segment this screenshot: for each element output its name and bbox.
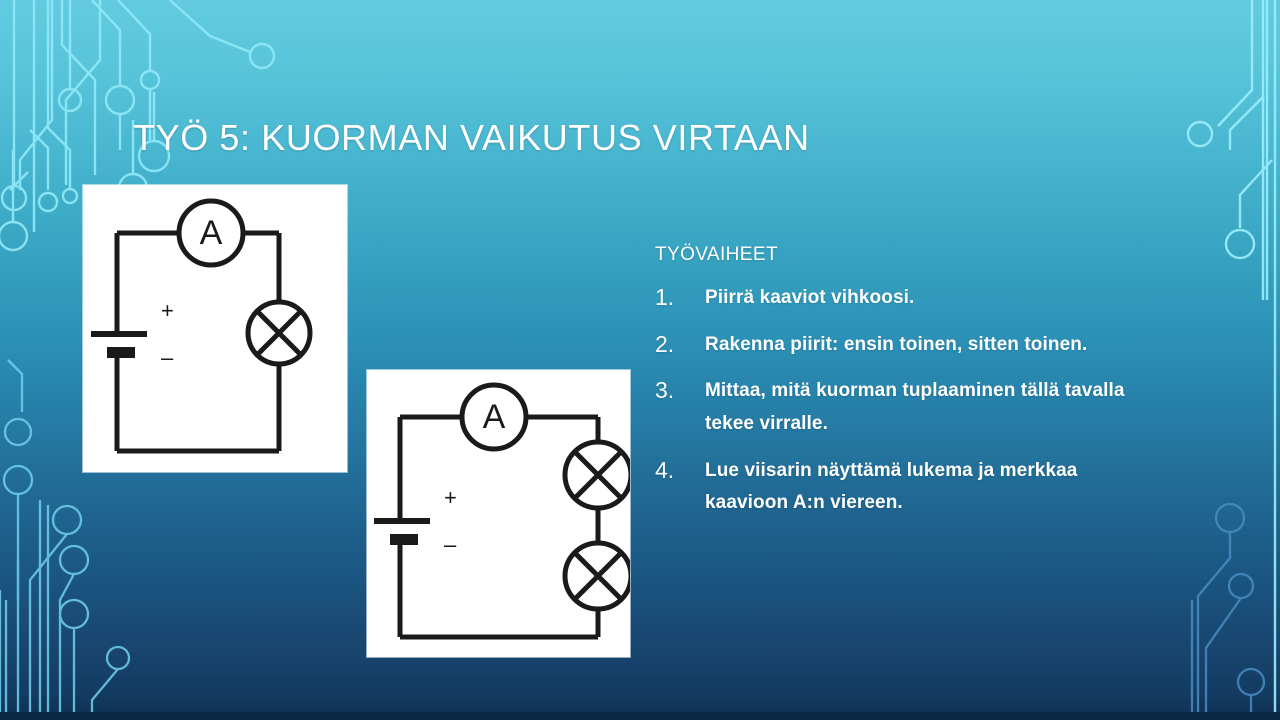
list-item: 1. Piirrä kaaviot vihkoosi. <box>655 282 1125 315</box>
battery-plus-label: + <box>161 298 174 323</box>
ammeter-symbol: A <box>179 201 243 265</box>
list-item-number: 2. <box>655 329 705 359</box>
slide-canvas: TYÖ 5: KUORMAN VAIKUTUS VIRTAAN <box>0 0 1280 720</box>
list-item-text: Rakenna piirit: ensin toinen, sitten toi… <box>705 329 1125 362</box>
lamp-symbol <box>248 302 310 364</box>
steps-block: TYÖVAIHEET 1. Piirrä kaaviot vihkoosi. 2… <box>655 244 1125 534</box>
circuit-svg-one-lamp: A + – <box>83 185 347 472</box>
list-item: 3. Mittaa, mitä kuorman tuplaaminen täll… <box>655 375 1125 440</box>
list-item-number: 1. <box>655 282 705 312</box>
bottom-accent-strip <box>0 712 1280 720</box>
circuit-diagram-two-lamps: A + – <box>367 370 630 657</box>
ammeter-label: A <box>200 214 223 252</box>
list-item-text: Piirrä kaaviot vihkoosi. <box>705 282 1125 315</box>
battery-symbol: + – <box>374 485 457 557</box>
battery-plus-plate <box>91 331 147 337</box>
lamp-symbol-lower <box>565 543 630 609</box>
list-item: 2. Rakenna piirit: ensin toinen, sitten … <box>655 329 1125 362</box>
battery-plus-plate <box>374 518 430 524</box>
circuit-svg-two-lamps: A + – <box>367 370 630 657</box>
battery-minus-plate <box>107 347 135 358</box>
lamp-symbol-upper <box>565 442 630 508</box>
list-item-text: Mittaa, mitä kuorman tuplaaminen tällä t… <box>705 375 1125 440</box>
battery-symbol: + – <box>91 298 174 370</box>
ammeter-symbol: A <box>462 385 526 449</box>
battery-minus-label: – <box>161 345 174 370</box>
battery-minus-plate <box>390 534 418 545</box>
list-item-text: Lue viisarin näyttämä lukema ja merkkaa … <box>705 455 1125 520</box>
battery-minus-label: – <box>444 532 457 557</box>
list-item-number: 3. <box>655 375 705 405</box>
steps-heading: TYÖVAIHEET <box>655 244 1125 266</box>
ammeter-label: A <box>483 398 506 436</box>
circuit-diagram-one-lamp: A + – <box>83 185 347 472</box>
page-title: TYÖ 5: KUORMAN VAIKUTUS VIRTAAN <box>133 117 810 159</box>
list-item-number: 4. <box>655 455 705 485</box>
battery-plus-label: + <box>444 485 457 510</box>
list-item: 4. Lue viisarin näyttämä lukema ja merkk… <box>655 455 1125 520</box>
